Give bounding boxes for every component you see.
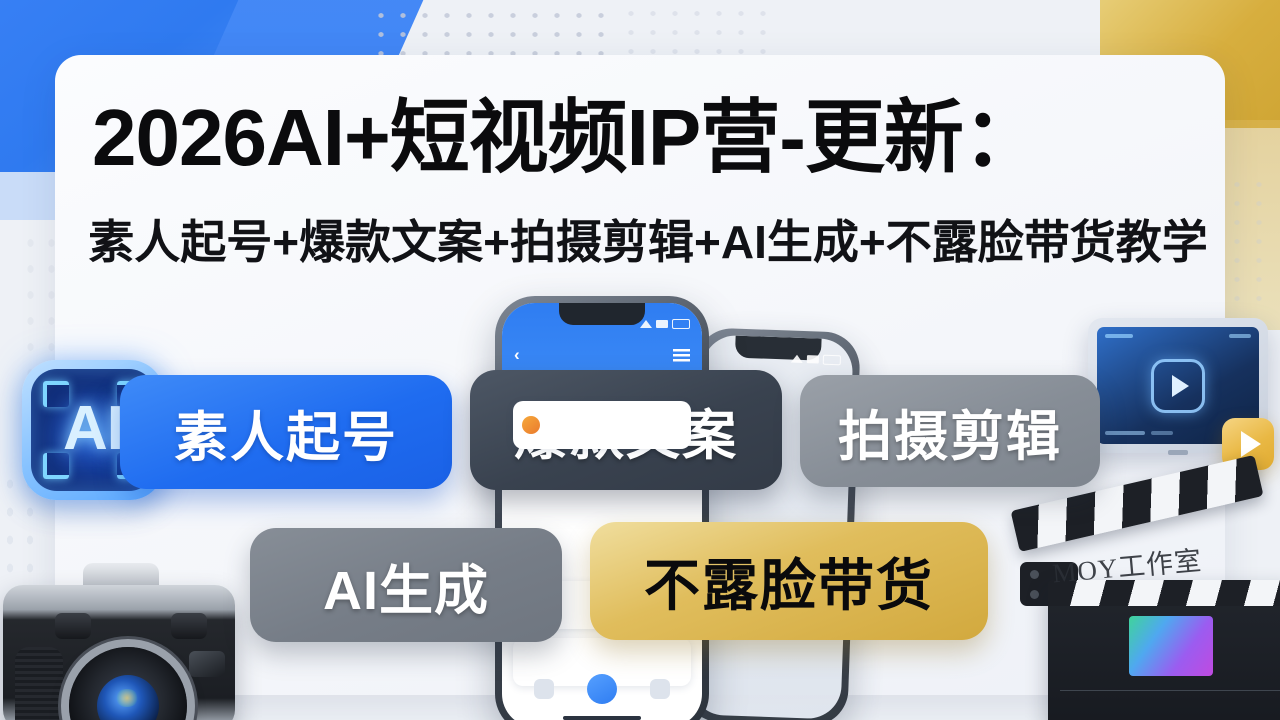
clapper-board xyxy=(1048,580,1280,720)
camera-glass xyxy=(97,675,159,720)
clapperboard-image xyxy=(1010,500,1280,720)
feature-pill-bululian-daihuo[interactable]: 不露脸带货 xyxy=(590,522,988,640)
clapper-fields xyxy=(1048,606,1280,686)
page-subtitle: 素人起号+爆款文案+拍摄剪辑+AI生成+不露脸带货教学 xyxy=(68,216,1228,268)
ai-icon-label: AI xyxy=(63,393,123,464)
label-chip-icon xyxy=(1105,334,1133,338)
phone-front-screen: ‹ xyxy=(502,303,702,720)
device-stand xyxy=(1168,450,1188,455)
timestamp-chip xyxy=(1151,431,1173,435)
phone-statusbar xyxy=(640,319,690,329)
camera-body xyxy=(3,585,235,720)
controls-icon xyxy=(1229,334,1251,338)
nav-home-icon[interactable] xyxy=(534,679,554,699)
camera-sensor xyxy=(189,651,225,677)
lens-flare xyxy=(115,689,139,707)
nav-create-icon[interactable] xyxy=(587,674,617,704)
camera-lens xyxy=(69,647,187,720)
back-chevron-icon[interactable]: ‹ xyxy=(514,345,520,365)
feature-pill-paishe-jianji[interactable]: 拍摄剪辑 xyxy=(800,375,1100,487)
signal-icon xyxy=(807,355,819,363)
battery-icon xyxy=(672,319,690,329)
battery-icon xyxy=(823,355,841,366)
home-indicator xyxy=(563,716,641,720)
camera-dial-right xyxy=(171,613,207,639)
dot-pattern-top xyxy=(370,6,610,58)
feature-pill-ai-shengcheng[interactable]: AI生成 xyxy=(250,528,562,642)
nav-profile-icon[interactable] xyxy=(650,679,670,699)
clapper-preview-screen xyxy=(1129,616,1213,676)
phone-mockup-front: ‹ xyxy=(495,296,709,720)
bottom-navigation[interactable] xyxy=(502,667,702,711)
camera-grip xyxy=(15,647,63,720)
progress-bar xyxy=(1105,431,1145,435)
phone-statusbar xyxy=(791,354,841,366)
dot-pattern-top-right xyxy=(620,4,770,56)
phone-notch-icon xyxy=(559,303,645,325)
list-item[interactable] xyxy=(513,401,691,449)
wifi-icon xyxy=(791,355,803,363)
play-icon[interactable] xyxy=(1151,359,1205,413)
signal-icon xyxy=(656,320,668,328)
avatar xyxy=(522,416,540,434)
wifi-icon xyxy=(640,320,652,328)
feature-pill-suren-qihao[interactable]: 素人起号 xyxy=(120,375,452,489)
dslr-camera-image xyxy=(0,545,245,720)
page-title: 2026AI+短视频IP营-更新： xyxy=(92,95,1202,181)
hamburger-menu-icon[interactable] xyxy=(673,349,690,362)
poster-canvas: 2026AI+短视频IP营-更新： 素人起号+爆款文案+拍摄剪辑+AI生成+不露… xyxy=(0,0,1280,720)
camera-dial-left xyxy=(55,613,91,639)
